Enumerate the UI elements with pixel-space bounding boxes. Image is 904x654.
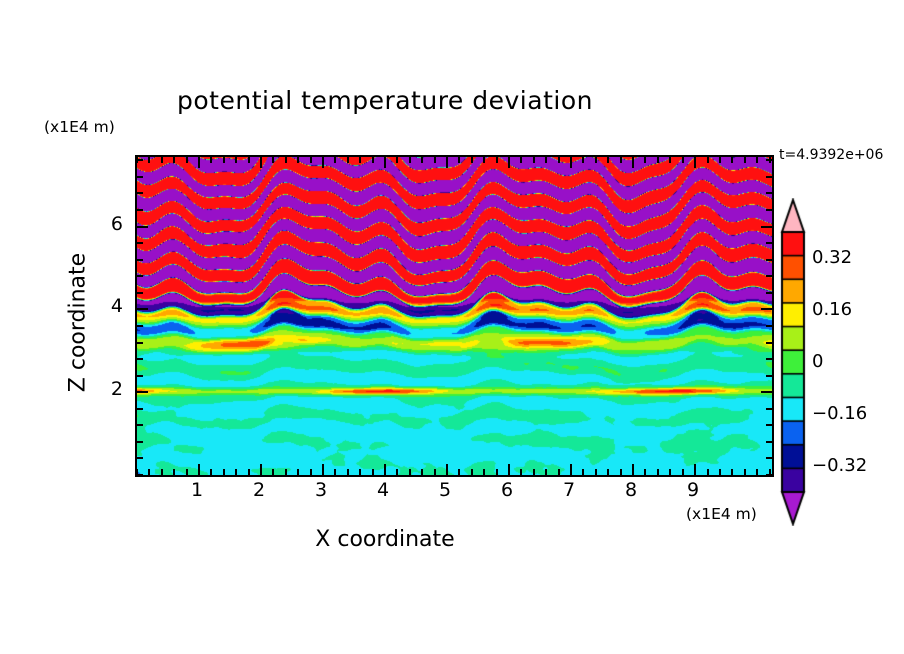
- x-tick-minor: [285, 469, 287, 475]
- y-tick-label: 6: [97, 213, 123, 235]
- colorbar-tick-label: 0: [812, 351, 823, 372]
- y-tick-minor: [137, 275, 143, 277]
- x-tick-minor: [310, 469, 312, 475]
- colorbar-tick-label: −0.16: [812, 403, 867, 424]
- x-tick-major-top: [632, 157, 634, 168]
- y-tick-major-right: [761, 308, 772, 310]
- y-tick-minor-right: [766, 159, 772, 161]
- x-tick-minor-top: [148, 157, 150, 163]
- x-tick-minor: [186, 469, 188, 475]
- y-tick-minor-right: [766, 408, 772, 410]
- x-tick-minor-top: [719, 157, 721, 163]
- x-tick-label: 3: [306, 479, 336, 501]
- x-tick-major: [446, 464, 448, 475]
- x-tick-minor-top: [186, 157, 188, 163]
- x-tick-minor-top: [682, 157, 684, 163]
- colorbar-tick-label: 0.16: [812, 299, 852, 320]
- y-tick-minor-right: [766, 176, 772, 178]
- x-tick-label: 7: [554, 479, 584, 501]
- x-tick-minor-top: [731, 157, 733, 163]
- x-tick-minor-top: [359, 157, 361, 163]
- x-tick-minor-top: [272, 157, 274, 163]
- x-tick-major-top: [198, 157, 200, 168]
- x-tick-minor-top: [210, 157, 212, 163]
- plot-area: [135, 155, 774, 477]
- x-tick-minor: [434, 469, 436, 475]
- y-tick-minor: [137, 292, 143, 294]
- x-tick-minor-top: [496, 157, 498, 163]
- x-tick-minor: [657, 469, 659, 475]
- y-tick-minor-right: [766, 358, 772, 360]
- x-tick-minor: [533, 469, 535, 475]
- x-tick-minor: [235, 469, 237, 475]
- x-tick-minor: [669, 469, 671, 475]
- y-tick-minor-right: [766, 424, 772, 426]
- x-tick-minor-top: [520, 157, 522, 163]
- y-tick-minor-right: [766, 275, 772, 277]
- x-tick-minor-top: [582, 157, 584, 163]
- x-tick-minor: [421, 469, 423, 475]
- x-tick-minor: [707, 469, 709, 475]
- x-tick-label: 6: [492, 479, 522, 501]
- x-tick-minor: [756, 469, 758, 475]
- x-tick-minor-top: [471, 157, 473, 163]
- y-tick-minor: [137, 259, 143, 261]
- x-tick-minor: [582, 469, 584, 475]
- x-tick-major-top: [384, 157, 386, 168]
- x-tick-minor-top: [607, 157, 609, 163]
- colorbar-swatches: [778, 198, 808, 526]
- x-tick-minor: [620, 469, 622, 475]
- x-axis-units-label: (x1E4 m): [686, 505, 757, 523]
- x-tick-minor-top: [372, 157, 374, 163]
- x-tick-minor: [148, 469, 150, 475]
- contour-field: [137, 157, 772, 475]
- x-tick-minor-top: [310, 157, 312, 163]
- x-tick-minor: [272, 469, 274, 475]
- x-tick-minor: [471, 469, 473, 475]
- x-tick-minor: [458, 469, 460, 475]
- x-tick-major: [198, 464, 200, 475]
- y-tick-minor-right: [766, 342, 772, 344]
- x-tick-minor: [607, 469, 609, 475]
- x-tick-minor: [558, 469, 560, 475]
- x-tick-minor: [359, 469, 361, 475]
- x-tick-minor: [173, 469, 175, 475]
- x-tick-minor: [595, 469, 597, 475]
- x-tick-minor-top: [409, 157, 411, 163]
- x-tick-minor: [719, 469, 721, 475]
- y-tick-minor: [137, 342, 143, 344]
- x-tick-minor: [396, 469, 398, 475]
- y-tick-major: [137, 391, 148, 393]
- x-tick-minor-top: [644, 157, 646, 163]
- x-tick-minor: [682, 469, 684, 475]
- y-tick-label: 2: [97, 378, 123, 400]
- y-axis-title: Z coordinate: [66, 213, 91, 433]
- x-tick-minor-top: [657, 157, 659, 163]
- y-tick-minor-right: [766, 325, 772, 327]
- x-tick-minor-top: [421, 157, 423, 163]
- x-tick-label: 4: [368, 479, 398, 501]
- x-tick-minor: [409, 469, 411, 475]
- x-tick-minor: [520, 469, 522, 475]
- x-tick-minor-top: [285, 157, 287, 163]
- y-tick-minor-right: [766, 192, 772, 194]
- x-tick-label: 9: [678, 479, 708, 501]
- x-tick-minor-top: [620, 157, 622, 163]
- x-tick-minor-top: [161, 157, 163, 163]
- y-tick-minor: [137, 209, 143, 211]
- y-tick-minor-right: [766, 457, 772, 459]
- x-tick-minor-top: [756, 157, 758, 163]
- x-tick-minor: [744, 469, 746, 475]
- colorbar: [778, 198, 808, 526]
- x-tick-major: [508, 464, 510, 475]
- x-tick-minor-top: [669, 157, 671, 163]
- y-tick-minor-right: [766, 242, 772, 244]
- x-tick-minor-top: [334, 157, 336, 163]
- x-tick-minor-top: [223, 157, 225, 163]
- x-tick-major: [384, 464, 386, 475]
- x-tick-major: [570, 464, 572, 475]
- y-tick-minor-right: [766, 209, 772, 211]
- x-tick-major-top: [322, 157, 324, 168]
- x-tick-minor-top: [347, 157, 349, 163]
- figure-canvas: potential temperature deviation (x1E4 m)…: [0, 0, 904, 654]
- x-tick-minor-top: [595, 157, 597, 163]
- x-tick-minor-top: [533, 157, 535, 163]
- x-tick-minor-top: [545, 157, 547, 163]
- x-tick-minor: [347, 469, 349, 475]
- x-tick-minor: [248, 469, 250, 475]
- x-tick-minor-top: [483, 157, 485, 163]
- y-tick-minor: [137, 474, 143, 476]
- y-tick-minor: [137, 457, 143, 459]
- x-tick-major-top: [694, 157, 696, 168]
- x-tick-minor-top: [248, 157, 250, 163]
- y-tick-major-right: [761, 391, 772, 393]
- x-tick-minor: [644, 469, 646, 475]
- x-tick-label: 2: [244, 479, 274, 501]
- y-tick-major: [137, 226, 148, 228]
- y-tick-minor: [137, 176, 143, 178]
- x-tick-minor: [161, 469, 163, 475]
- x-tick-minor-top: [744, 157, 746, 163]
- z-axis-units-label: (x1E4 m): [44, 118, 115, 136]
- y-tick-minor: [137, 424, 143, 426]
- y-tick-minor-right: [766, 441, 772, 443]
- x-tick-minor: [372, 469, 374, 475]
- y-tick-minor: [137, 159, 143, 161]
- y-tick-major: [137, 308, 148, 310]
- y-tick-minor: [137, 375, 143, 377]
- x-tick-minor-top: [558, 157, 560, 163]
- x-axis-title: X coordinate: [0, 527, 770, 552]
- x-tick-label: 5: [430, 479, 460, 501]
- colorbar-tick-label: 0.32: [812, 247, 852, 268]
- y-tick-major-right: [761, 226, 772, 228]
- x-tick-major-top: [260, 157, 262, 168]
- x-tick-minor-top: [434, 157, 436, 163]
- x-tick-major-top: [570, 157, 572, 168]
- x-tick-minor-top: [297, 157, 299, 163]
- x-tick-minor: [334, 469, 336, 475]
- x-tick-minor-top: [235, 157, 237, 163]
- y-tick-label: 4: [97, 295, 123, 317]
- y-tick-minor: [137, 408, 143, 410]
- x-tick-major: [260, 464, 262, 475]
- x-tick-major: [632, 464, 634, 475]
- x-tick-minor: [496, 469, 498, 475]
- x-tick-minor: [483, 469, 485, 475]
- y-tick-minor-right: [766, 292, 772, 294]
- y-tick-minor: [137, 192, 143, 194]
- x-tick-minor: [223, 469, 225, 475]
- x-tick-minor: [210, 469, 212, 475]
- y-tick-minor-right: [766, 259, 772, 261]
- x-tick-major-top: [508, 157, 510, 168]
- x-tick-minor-top: [707, 157, 709, 163]
- colorbar-tick-label: −0.32: [812, 455, 867, 476]
- x-tick-minor-top: [458, 157, 460, 163]
- x-tick-minor: [731, 469, 733, 475]
- x-tick-major: [322, 464, 324, 475]
- y-tick-minor: [137, 441, 143, 443]
- x-tick-major: [694, 464, 696, 475]
- y-tick-minor: [137, 325, 143, 327]
- y-tick-minor-right: [766, 474, 772, 476]
- y-tick-minor-right: [766, 375, 772, 377]
- page-title: potential temperature deviation: [0, 86, 770, 115]
- x-tick-label: 8: [616, 479, 646, 501]
- x-tick-minor: [545, 469, 547, 475]
- x-tick-minor-top: [173, 157, 175, 163]
- y-tick-minor: [137, 358, 143, 360]
- x-tick-label: 1: [182, 479, 212, 501]
- timestamp-annotation: t=4.9392e+06: [779, 147, 883, 163]
- x-tick-minor: [297, 469, 299, 475]
- x-tick-major-top: [446, 157, 448, 168]
- y-tick-minor: [137, 242, 143, 244]
- x-tick-minor-top: [396, 157, 398, 163]
